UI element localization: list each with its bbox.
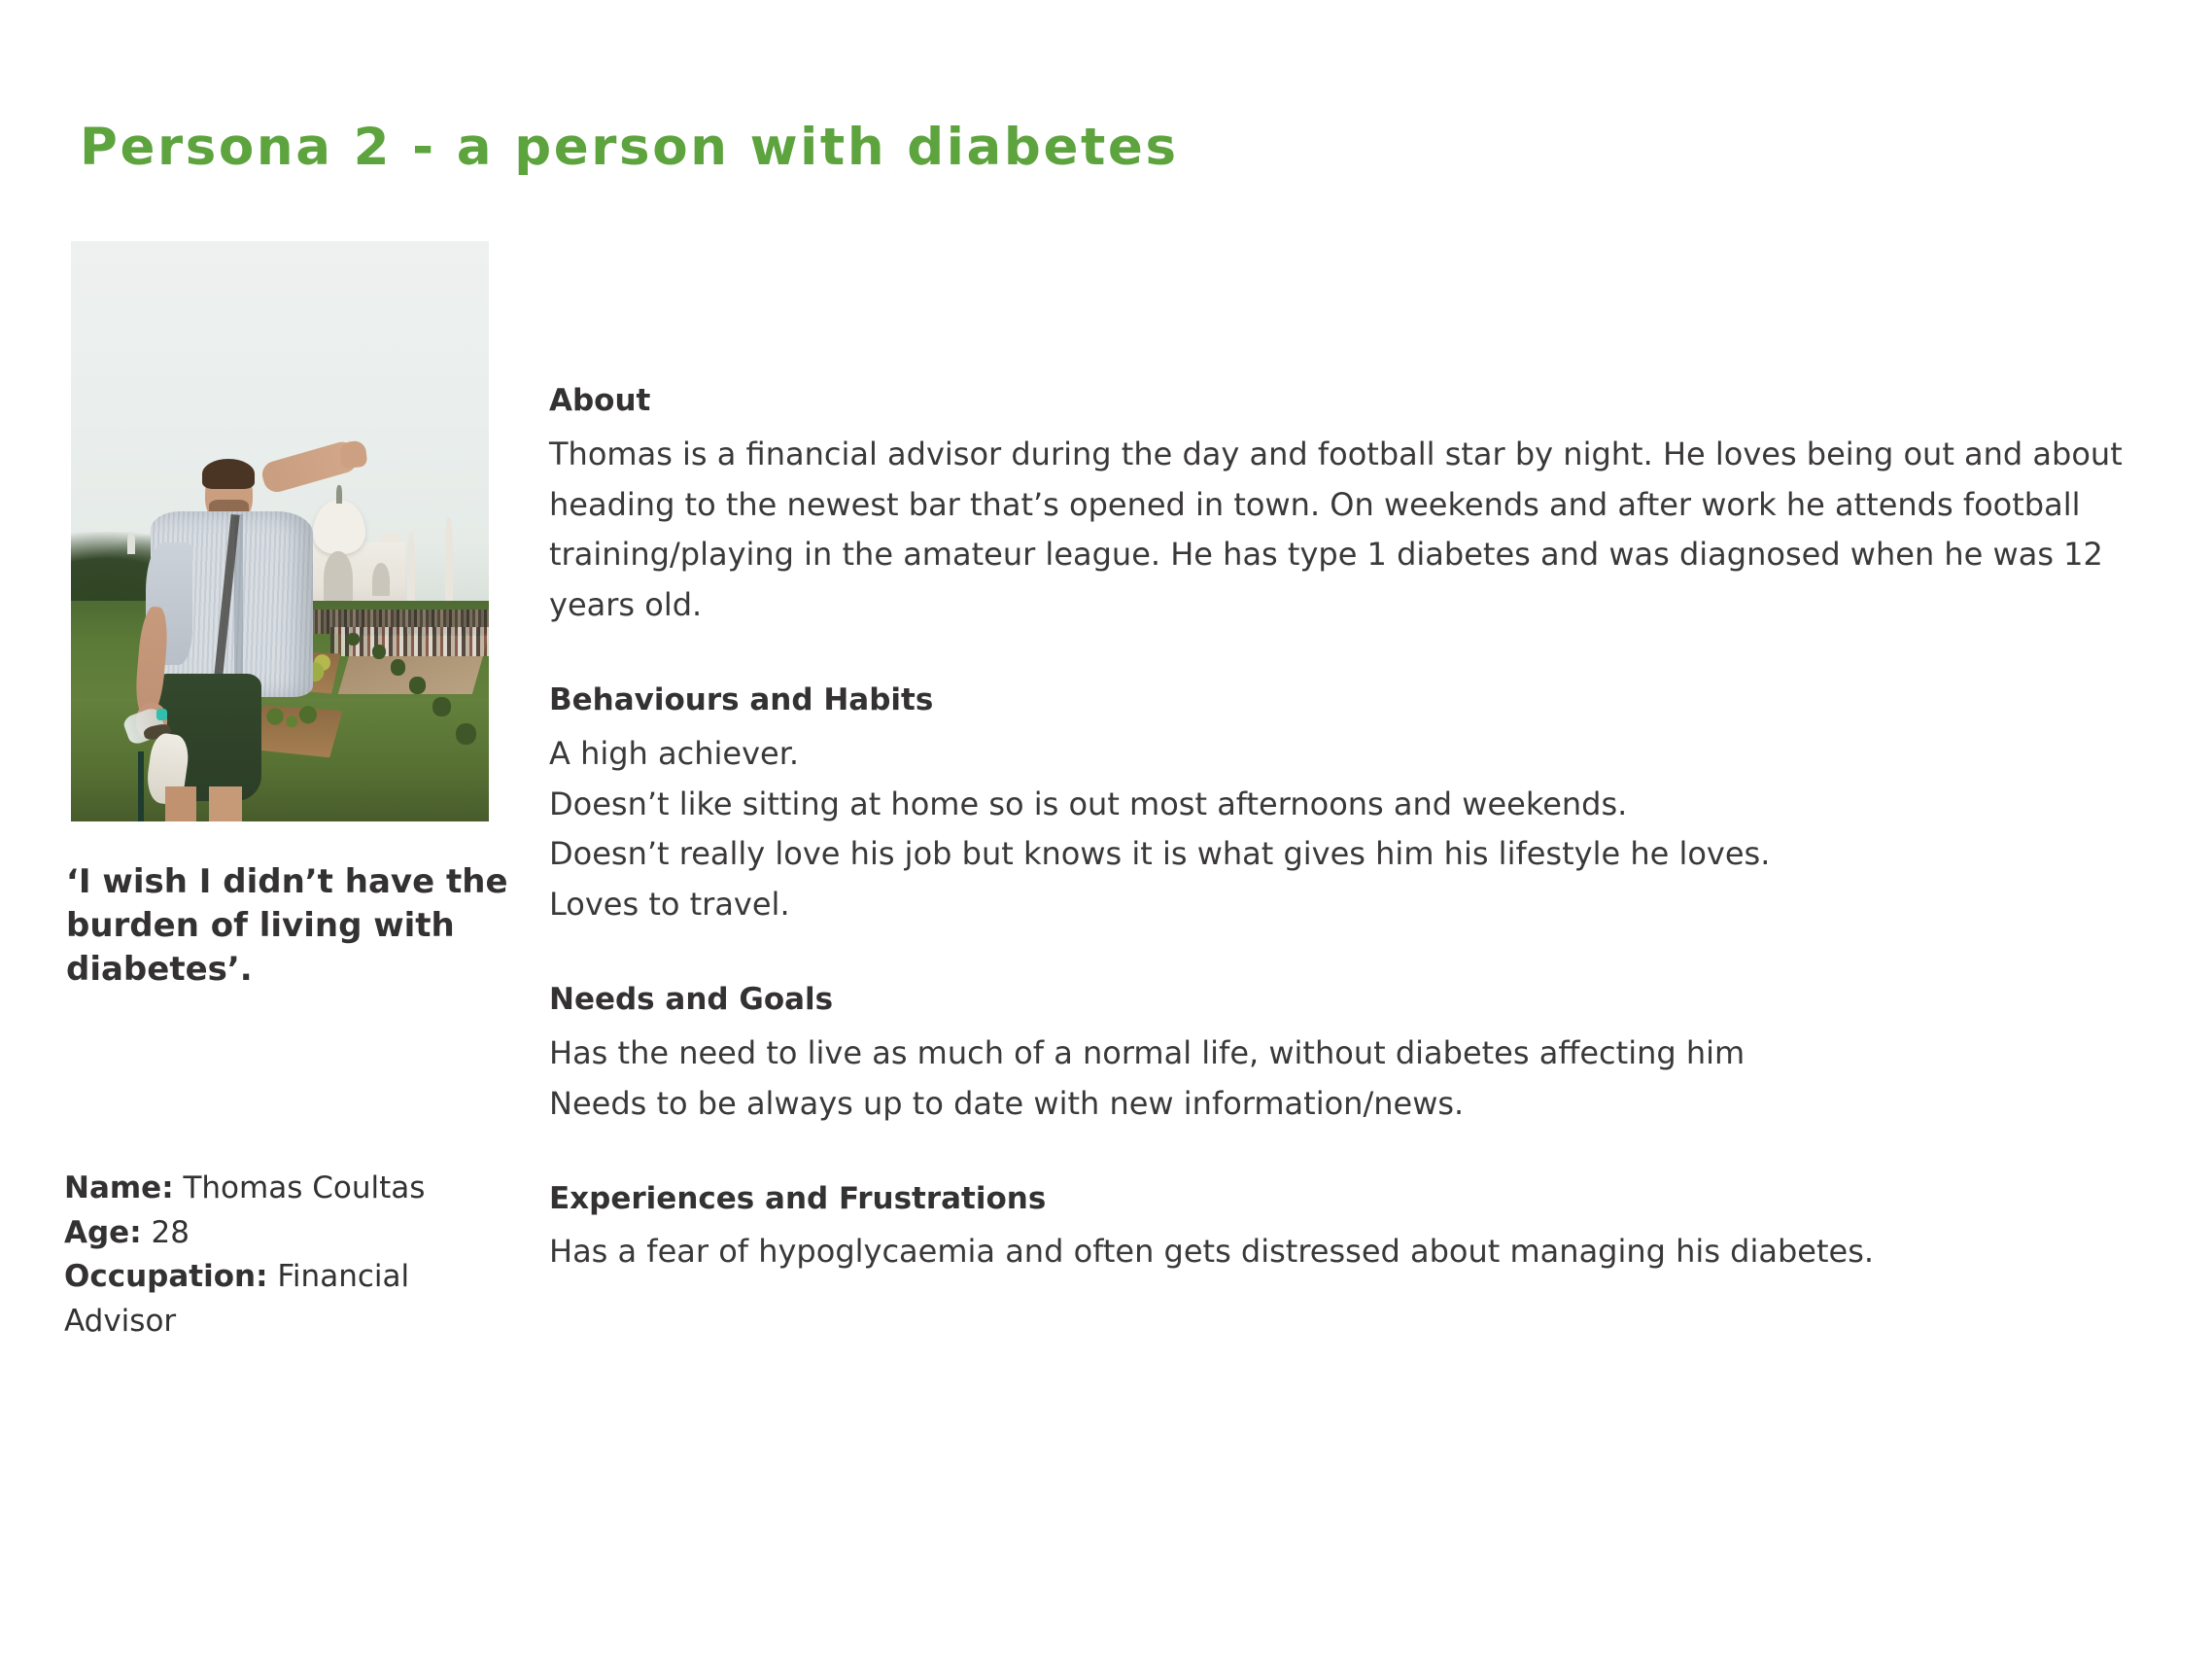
leg — [165, 786, 196, 821]
persona-details: About Thomas is a financial advisor duri… — [549, 382, 2172, 1277]
section-heading: Behaviours and Habits — [549, 681, 2172, 719]
section-heading: Needs and Goals — [549, 981, 2172, 1019]
body-line: Doesn’t really love his job but knows it… — [549, 829, 2172, 880]
distant-dome-icon — [127, 532, 135, 555]
leg — [209, 786, 242, 821]
age-value: 28 — [151, 1215, 189, 1250]
section-about: About Thomas is a financial advisor duri… — [549, 382, 2172, 631]
hair — [202, 459, 255, 489]
minaret-icon — [445, 517, 453, 605]
body-line: Has a fear of hypoglycaemia and often ge… — [549, 1227, 2172, 1277]
section-experiences-and-frustrations: Experiences and Frustrations Has a fear … — [549, 1180, 2172, 1278]
section-heading: About — [549, 382, 2172, 420]
body-line: A high achiever. — [549, 729, 2172, 780]
pinching-hand — [339, 440, 367, 470]
section-body: Thomas is a financial advisor during the… — [549, 430, 2172, 631]
fence-post — [138, 751, 144, 821]
name-label: Name: — [64, 1170, 174, 1205]
taj-side-arch — [372, 563, 390, 595]
meta-row-age: Age: 28 — [64, 1211, 521, 1256]
body-line: Thomas is a financial advisor during the… — [549, 430, 2172, 631]
body-line: Doesn’t like sitting at home so is out m… — [549, 780, 2172, 830]
age-label: Age: — [64, 1215, 142, 1250]
hedge — [409, 677, 426, 694]
section-body: Has the need to live as much of a normal… — [549, 1029, 2172, 1130]
meta-row-name: Name: Thomas Coultas — [64, 1167, 521, 1211]
persona-page: Persona 2 - a person with diabetes — [0, 0, 2212, 1676]
persona-meta: Name: Thomas Coultas Age: 28 Occupation:… — [64, 1167, 521, 1344]
hedge — [347, 633, 360, 646]
hedge — [391, 659, 405, 676]
taj-mahal-spire — [336, 485, 342, 504]
page-title: Persona 2 - a person with diabetes — [80, 120, 1179, 176]
taj-main-arch — [324, 551, 353, 601]
section-behaviours-and-habits: Behaviours and Habits A high achiever.Do… — [549, 681, 2172, 930]
photo-illustration — [71, 241, 489, 821]
section-heading: Experiences and Frustrations — [549, 1180, 2172, 1218]
flowers — [259, 703, 323, 738]
bottle-cap — [156, 709, 167, 720]
persona-quote: ‘I wish I didn’t have the burden of livi… — [66, 860, 513, 992]
hedge — [432, 697, 451, 716]
body-line: Needs to be always up to date with new i… — [549, 1079, 2172, 1130]
body-line: Loves to travel. — [549, 880, 2172, 930]
minaret-icon — [407, 534, 415, 604]
section-body: A high achiever.Doesn’t like sitting at … — [549, 729, 2172, 930]
name-value: Thomas Coultas — [183, 1170, 425, 1205]
body-line: Has the need to live as much of a normal… — [549, 1029, 2172, 1079]
persona-photo — [71, 241, 489, 821]
section-body: Has a fear of hypoglycaemia and often ge… — [549, 1227, 2172, 1277]
meta-row-occupation: Occupation: Financial Advisor — [64, 1255, 521, 1344]
hedge — [456, 723, 477, 746]
occupation-label: Occupation: — [64, 1259, 268, 1294]
section-needs-and-goals: Needs and Goals Has the need to live as … — [549, 981, 2172, 1129]
